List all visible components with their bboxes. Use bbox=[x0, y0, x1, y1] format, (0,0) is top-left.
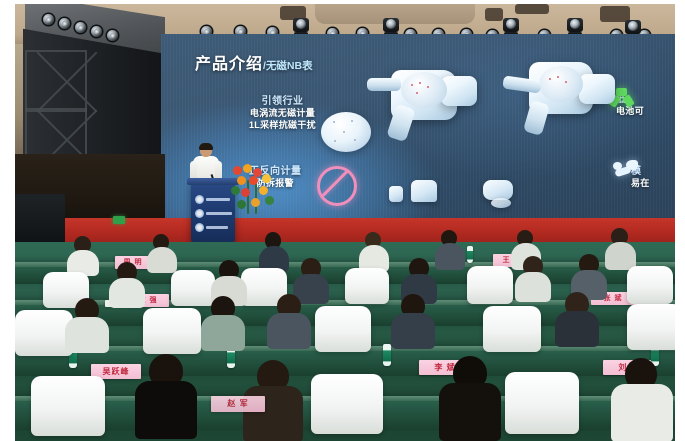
prohibition-icon bbox=[317, 166, 357, 206]
chair-cover bbox=[627, 304, 675, 350]
chair-cover bbox=[315, 306, 371, 352]
slide-title-sub: 无磁NB表 bbox=[266, 60, 313, 72]
par-light-icon bbox=[59, 18, 70, 29]
person-torso bbox=[555, 311, 599, 347]
chair-cover bbox=[345, 268, 389, 304]
person-torso bbox=[439, 383, 501, 441]
disc-sensor-icon bbox=[321, 112, 371, 152]
person-torso bbox=[201, 315, 245, 351]
person-torso bbox=[391, 313, 435, 349]
person-torso bbox=[147, 247, 177, 273]
presenter-hair bbox=[199, 143, 213, 150]
feature-heading: 引领行业 bbox=[249, 92, 316, 107]
par-light-icon bbox=[107, 30, 118, 41]
person-torso bbox=[605, 242, 636, 270]
chair-cover bbox=[311, 374, 383, 434]
chair-cover bbox=[143, 308, 201, 354]
meter-module-small-4 bbox=[491, 198, 511, 208]
lectern-emblem-1 bbox=[195, 195, 204, 204]
meter-module-small-3 bbox=[483, 180, 513, 200]
water-meter-large-right bbox=[495, 56, 625, 156]
exit-sign-icon bbox=[113, 216, 125, 224]
lectern-emblem-3 bbox=[195, 223, 204, 232]
chair-cover bbox=[467, 266, 513, 304]
person-torso bbox=[65, 317, 109, 353]
par-light-icon bbox=[43, 14, 54, 25]
table-edge bbox=[15, 262, 675, 267]
person-torso bbox=[267, 313, 311, 349]
chair-cover bbox=[31, 376, 105, 436]
chair-cover bbox=[505, 372, 579, 434]
chair-cover bbox=[483, 306, 541, 352]
person-torso bbox=[611, 384, 673, 441]
par-light-icon bbox=[91, 26, 102, 37]
photo-frame: 产品介绍/无磁NB表 引领行业 电涡流无磁计量 1L采样抗磁干扰 正反向计量 防… bbox=[0, 0, 685, 441]
person-torso bbox=[435, 243, 465, 270]
truss-cross-brace-1 bbox=[25, 50, 87, 112]
chair-cover bbox=[627, 266, 673, 304]
lectern-text-line-3 bbox=[206, 226, 228, 229]
wrench-icon bbox=[613, 158, 643, 184]
water-meter-large-left bbox=[367, 62, 487, 158]
person-torso bbox=[109, 278, 145, 308]
chair-cover bbox=[171, 270, 215, 306]
feature-line: 1L采样抗磁干扰 bbox=[249, 119, 316, 131]
flower-arrangement bbox=[229, 164, 275, 224]
slide-title: 产品介绍/无磁NB表 bbox=[195, 50, 313, 74]
feature-line: 电涡流无磁计量 bbox=[249, 107, 316, 119]
par-light-icon bbox=[75, 22, 86, 33]
ceiling-fixture-2 bbox=[485, 8, 503, 21]
lectern-emblem-2 bbox=[195, 209, 204, 218]
person-torso bbox=[515, 272, 551, 302]
lectern-text-line-1 bbox=[206, 198, 230, 201]
meter-module-small-2 bbox=[411, 180, 437, 202]
slide-title-main: 产品介绍 bbox=[195, 56, 263, 73]
water-bottle bbox=[467, 246, 473, 263]
person-torso bbox=[243, 386, 303, 441]
person-torso bbox=[135, 381, 197, 439]
feature-leading-industry: 引领行业 电涡流无磁计量 1L采样抗磁干扰 bbox=[249, 92, 316, 131]
conference-photograph: 产品介绍/无磁NB表 引领行业 电涡流无磁计量 1L采样抗磁干扰 正反向计量 防… bbox=[15, 4, 675, 441]
water-bottle bbox=[383, 344, 391, 366]
name-placard: 赵 军 bbox=[211, 396, 265, 412]
meter-module-small-1 bbox=[389, 186, 403, 202]
ceiling-fixture-3 bbox=[515, 4, 549, 14]
